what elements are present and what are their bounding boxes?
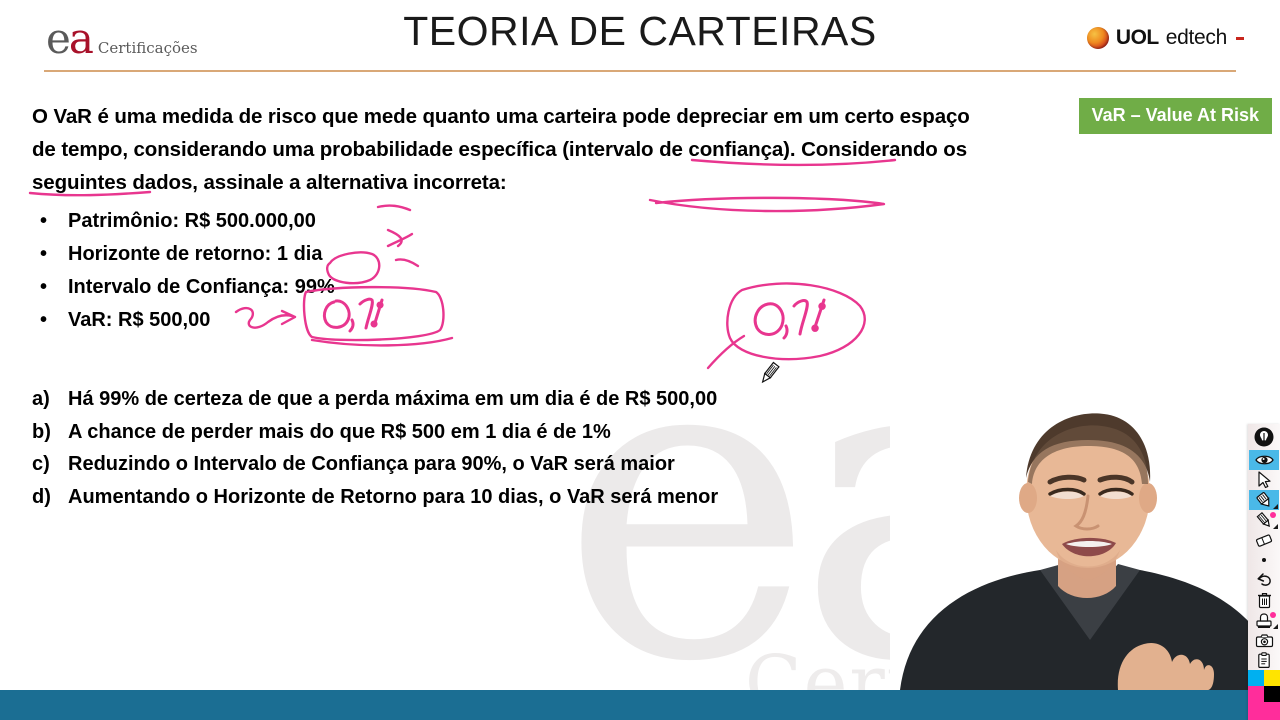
option-text: Reduzindo o Intervalo de Confiança para …: [68, 448, 675, 481]
highlighter-icon[interactable]: [1249, 490, 1279, 510]
highlighter-options-arrow-icon[interactable]: [1273, 504, 1278, 509]
eye-visibility-icon[interactable]: [1249, 450, 1279, 470]
answer-options-list: a) Há 99% de certeza de que a perda máxi…: [32, 383, 1012, 513]
slide-canvas: ea Certificações ea Certificações TEORIA…: [0, 0, 1280, 720]
pen-logo-icon[interactable]: [1249, 424, 1279, 450]
list-item-label: Patrimônio: R$ 500.000,00: [68, 205, 316, 238]
uol-circle-icon: [1087, 27, 1109, 49]
bottom-status-bar: [0, 690, 1280, 720]
bullet-marker-icon: •: [32, 304, 68, 337]
cursor-pointer-icon[interactable]: [1249, 470, 1279, 490]
uol-edtech-logo: UOL edtech: [1087, 26, 1244, 50]
header-divider: [44, 70, 1236, 72]
clipboard-icon[interactable]: [1249, 650, 1279, 670]
list-item-label: Horizonte de retorno: 1 dia: [68, 238, 322, 271]
list-item-label: Intervalo de Confiança: 99%: [68, 271, 335, 304]
list-item: • Patrimônio: R$ 500.000,00: [32, 205, 1012, 238]
edtech-underscore-icon: [1236, 37, 1244, 40]
answer-option-c: c) Reduzindo o Intervalo de Confiança pa…: [32, 448, 1012, 481]
swatch-cyan[interactable]: [1248, 670, 1264, 686]
bullet-marker-icon: •: [32, 238, 68, 271]
list-item-label: VaR: R$ 500,00: [68, 304, 210, 337]
dot-size-icon[interactable]: [1249, 550, 1279, 570]
option-text: A chance de perder mais do que R$ 500 em…: [68, 416, 611, 449]
annotation-toolbar[interactable]: [1248, 424, 1280, 720]
stamp-color-indicator: [1270, 612, 1276, 618]
pen-stylus-cursor: [756, 360, 782, 386]
answer-option-b: b) A chance de perder mais do que R$ 500…: [32, 416, 1012, 449]
swatch-black[interactable]: [1264, 686, 1280, 702]
pencil-color-indicator: [1270, 512, 1276, 518]
option-key: d): [32, 481, 68, 514]
list-item: • Intervalo de Confiança: 99%: [32, 271, 1012, 304]
option-key: c): [32, 448, 68, 481]
pencil-options-arrow-icon[interactable]: [1273, 524, 1278, 529]
stamp-icon[interactable]: [1249, 610, 1279, 630]
slide-content: O VaR é uma medida de risco que mede qua…: [32, 100, 1012, 513]
option-key: b): [32, 416, 68, 449]
data-bullet-list: • Patrimônio: R$ 500.000,00 • Horizonte …: [32, 205, 1012, 337]
trash-icon[interactable]: [1249, 590, 1279, 610]
question-paragraph: O VaR é uma medida de risco que mede qua…: [32, 100, 974, 199]
bullet-marker-icon: •: [32, 271, 68, 304]
undo-icon[interactable]: [1249, 570, 1279, 590]
pencil-icon[interactable]: [1249, 510, 1279, 530]
swatch-magenta[interactable]: [1248, 686, 1264, 702]
edtech-wordmark: edtech: [1166, 26, 1227, 50]
presenter-webcam-video: [890, 390, 1280, 690]
swatch-active-magenta[interactable]: [1248, 702, 1280, 720]
list-item: • VaR: R$ 500,00: [32, 304, 1012, 337]
status-badge: VaR – Value At Risk: [1079, 98, 1272, 134]
bullet-marker-icon: •: [32, 205, 68, 238]
swatch-yellow[interactable]: [1264, 670, 1280, 686]
stamp-options-arrow-icon[interactable]: [1273, 624, 1278, 629]
option-text: Aumentando o Horizonte de Retorno para 1…: [68, 481, 718, 514]
list-item: • Horizonte de retorno: 1 dia: [32, 238, 1012, 271]
answer-option-a: a) Há 99% de certeza de que a perda máxi…: [32, 383, 1012, 416]
option-text: Há 99% de certeza de que a perda máxima …: [68, 383, 717, 416]
color-palette[interactable]: [1248, 670, 1280, 720]
slide-header: ea Certificações TEORIA DE CARTEIRAS UOL…: [0, 0, 1280, 74]
answer-option-d: d) Aumentando o Horizonte de Retorno par…: [32, 481, 1012, 514]
eraser-icon[interactable]: [1249, 530, 1279, 550]
option-key: a): [32, 383, 68, 416]
camera-icon[interactable]: [1249, 630, 1279, 650]
uol-wordmark: UOL: [1116, 26, 1159, 50]
